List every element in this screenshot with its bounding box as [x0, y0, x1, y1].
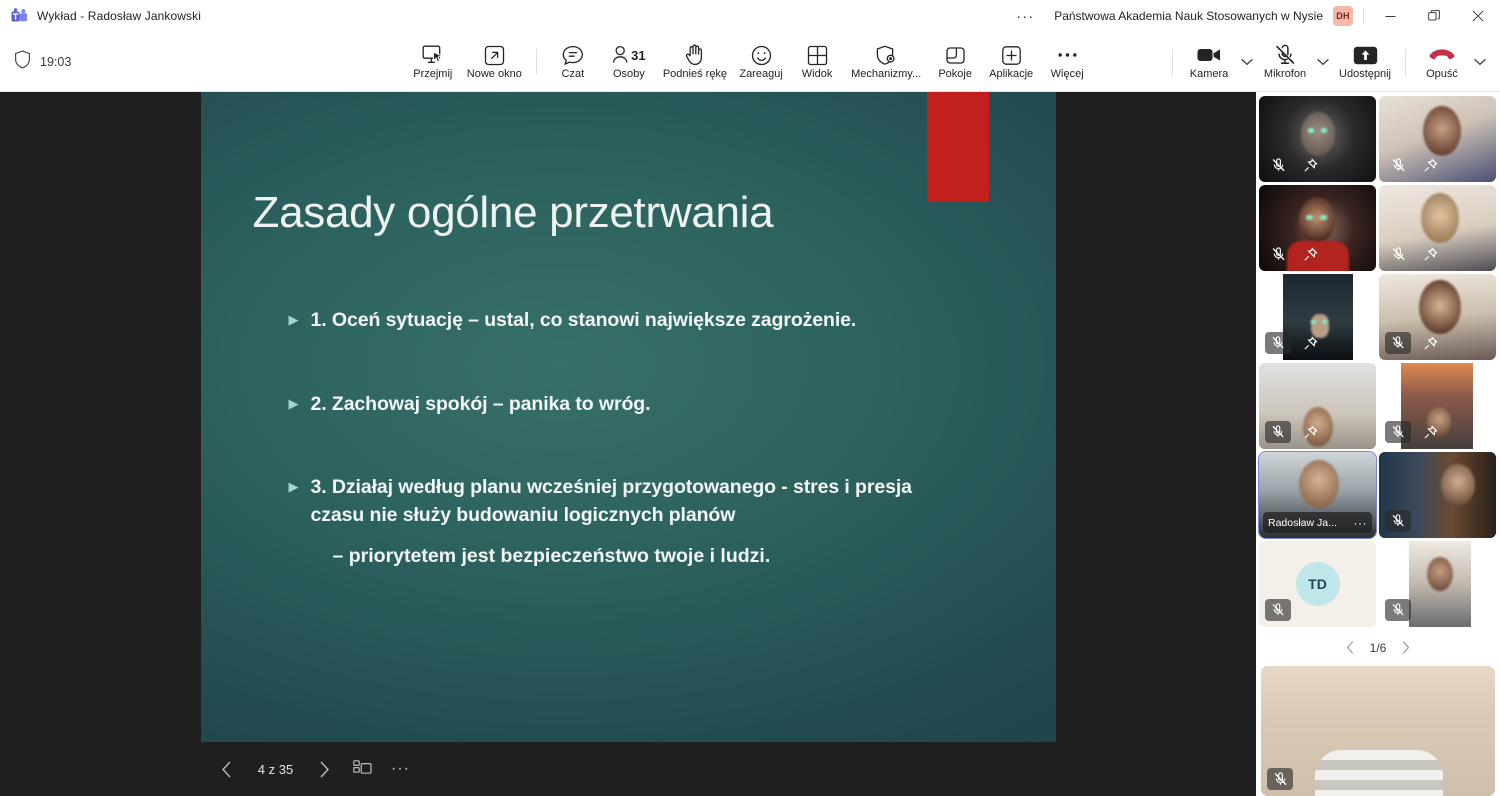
slide-canvas: Zasady ogólne przetrwania ▶ 1. Oceń sytu… — [201, 92, 1056, 742]
react-button[interactable]: Zareaguj — [733, 36, 789, 88]
minimize-button[interactable] — [1368, 0, 1412, 32]
new-window-label: Nowe okno — [467, 68, 522, 80]
slide-bullet-text: 3. Działaj według planu wcześniej przygo… — [311, 476, 912, 526]
pin-icon[interactable] — [1297, 243, 1323, 265]
titlebar-divider — [1363, 8, 1364, 24]
share-button[interactable]: Udostępnij — [1333, 36, 1397, 88]
share-screen-icon — [1353, 43, 1378, 67]
self-view-overlay — [1267, 768, 1293, 790]
user-avatar[interactable]: DH — [1333, 6, 1353, 26]
chat-label: Czat — [562, 68, 585, 80]
participant-tile[interactable] — [1379, 185, 1496, 271]
participant-count: 31 — [631, 48, 645, 63]
leave-chevron-down-icon[interactable] — [1470, 36, 1490, 88]
participant-tile[interactable] — [1379, 363, 1496, 449]
participant-tile[interactable] — [1379, 96, 1496, 182]
microphone-muted-icon — [1385, 421, 1411, 443]
mechanisms-button[interactable]: Mechanizmy... — [845, 36, 927, 88]
leave-label: Opuść — [1426, 68, 1458, 80]
slide-accent-rectangle — [927, 92, 989, 202]
microphone-muted-icon — [1265, 243, 1291, 265]
slide-bullet-list: ▶ 1. Oceń sytuację – ustal, co stanowi n… — [289, 306, 969, 596]
people-button[interactable]: 31 Osoby — [601, 36, 657, 88]
microphone-muted-icon — [1265, 599, 1291, 621]
title-bar-left: Wykład - Radosław Jankowski — [0, 8, 201, 25]
slide-title: Zasady ogólne przetrwania — [253, 188, 774, 238]
camera-button[interactable]: Kamera — [1181, 36, 1237, 88]
previous-slide-button[interactable] — [211, 753, 243, 785]
pin-icon[interactable] — [1297, 421, 1323, 443]
tile-overlay-controls — [1265, 243, 1323, 265]
more-button[interactable]: Więcej — [1039, 36, 1095, 88]
new-window-button[interactable]: Nowe okno — [461, 36, 528, 88]
tile-more-options-icon[interactable]: ··· — [1354, 517, 1368, 529]
toolbar-divider — [536, 49, 537, 75]
apps-plus-icon — [1001, 43, 1022, 67]
microphone-chevron-down-icon[interactable] — [1313, 36, 1333, 88]
shield-icon — [14, 50, 31, 74]
tile-overlay-controls — [1385, 510, 1411, 532]
organization-label: Państwowa Akademia Nauk Stosowanych w Ny… — [1044, 9, 1333, 23]
slide-bullet-item: ▶ 1. Oceń sytuację – ustal, co stanowi n… — [289, 306, 969, 334]
slide-counter: 4 z 35 — [249, 762, 303, 777]
participant-tile[interactable] — [1259, 185, 1376, 271]
microphone-muted-icon — [1267, 768, 1293, 790]
window-title: Wykład - Radosław Jankowski — [37, 9, 201, 23]
tile-overlay-controls — [1385, 332, 1443, 354]
titlebar-overflow-icon[interactable]: ··· — [1006, 9, 1044, 24]
bullet-triangle-icon: ▶ — [289, 313, 311, 334]
microphone-muted-icon — [1265, 332, 1291, 354]
participant-tile[interactable] — [1259, 96, 1376, 182]
take-control-button[interactable]: Przejmij — [405, 36, 461, 88]
raise-hand-icon — [685, 43, 704, 67]
leave-button[interactable]: Opuść — [1414, 36, 1470, 88]
toolbar-left-group: 19:03 — [0, 50, 71, 74]
tile-overlay-controls — [1265, 599, 1291, 621]
tile-overlay-controls — [1265, 332, 1323, 354]
pop-out-icon — [484, 43, 505, 67]
raise-hand-label: Podnieś rękę — [663, 68, 727, 80]
microphone-control: Mikrofon — [1257, 36, 1333, 88]
meeting-stage: Zasady ogólne przetrwania ▶ 1. Oceń sytu… — [0, 92, 1256, 796]
microphone-muted-icon — [1274, 43, 1296, 67]
bullet-triangle-icon: ▶ — [289, 480, 311, 571]
camera-control: Kamera — [1181, 36, 1257, 88]
pin-icon[interactable] — [1297, 154, 1323, 176]
teams-logo-icon — [11, 8, 28, 25]
toolbar-center-group: Przejmij Nowe okno Czat — [405, 32, 1095, 91]
participant-tile-active-speaker[interactable]: Radosław Ja... ··· — [1259, 452, 1376, 538]
people-label: Osoby — [613, 68, 645, 80]
participant-tile-grid: Radosław Ja... ··· TD — [1259, 96, 1497, 627]
react-label: Zareaguj — [739, 68, 782, 80]
mechanisms-label: Mechanizmy... — [851, 68, 921, 80]
microphone-button[interactable]: Mikrofon — [1257, 36, 1313, 88]
microphone-muted-icon — [1265, 154, 1291, 176]
toolbar-call-controls: Kamera Mikrofon — [1164, 32, 1500, 91]
slide-subnote-text: – priorytetem jest bezpieczeństwo twoje … — [333, 543, 969, 570]
tile-overlay-controls — [1385, 599, 1411, 621]
leave-control: Opuść — [1414, 36, 1490, 88]
window-title-bar: Wykład - Radosław Jankowski ··· Państwow… — [0, 0, 1500, 32]
camera-chevron-down-icon[interactable] — [1237, 36, 1257, 88]
participant-tile[interactable] — [1379, 541, 1496, 627]
apps-button[interactable]: Aplikacje — [983, 36, 1039, 88]
meeting-toolbar: 19:03 Przejmij Nowe okno — [0, 32, 1500, 92]
people-icon: 31 — [612, 43, 645, 67]
shield-gear-icon — [875, 43, 897, 67]
participant-tile[interactable] — [1259, 363, 1376, 449]
roster-next-page-button[interactable] — [1394, 636, 1418, 660]
bullet-triangle-icon: ▶ — [289, 397, 311, 418]
microphone-muted-icon — [1265, 421, 1291, 443]
view-button[interactable]: Widok — [789, 36, 845, 88]
participant-tile[interactable] — [1259, 274, 1376, 360]
pin-icon[interactable] — [1417, 154, 1443, 176]
self-view-tile[interactable] — [1261, 666, 1495, 796]
hangup-icon — [1429, 43, 1455, 67]
slide-bullet-item: ▶ 2. Zachowaj spokój – panika to wróg. — [289, 390, 969, 418]
camera-on-icon — [1197, 43, 1221, 67]
pin-icon[interactable] — [1417, 243, 1443, 265]
roster-page-indicator: 1/6 — [1364, 641, 1393, 655]
meeting-timer: 19:03 — [40, 55, 71, 69]
react-smiley-icon — [751, 43, 772, 67]
slide-more-dots-icon: ··· — [391, 761, 410, 777]
tile-overlay-controls — [1385, 421, 1443, 443]
chat-icon — [562, 43, 584, 67]
raise-hand-button[interactable]: Podnieś rękę — [657, 36, 733, 88]
pin-icon[interactable] — [1297, 332, 1323, 354]
participant-avatar-initials: TD — [1296, 562, 1340, 606]
slide-navigation-bar: 4 z 35 ··· — [201, 742, 1056, 796]
microphone-muted-icon — [1385, 332, 1411, 354]
breakout-rooms-icon — [945, 43, 966, 67]
participant-tile[interactable] — [1379, 452, 1496, 538]
next-slide-button[interactable] — [309, 753, 341, 785]
slide-bullet-item: ▶ 3. Działaj według planu wcześniej przy… — [289, 473, 969, 571]
camera-label: Kamera — [1190, 68, 1229, 80]
rooms-label: Pokoje — [938, 68, 972, 80]
participant-name-bar: Radosław Ja... ··· — [1263, 512, 1372, 533]
title-bar-right: ··· Państwowa Akademia Nauk Stosowanych … — [1006, 0, 1500, 32]
more-dots-icon — [1057, 43, 1078, 67]
slide-bullet-text: 2. Zachowaj spokój – panika to wróg. — [311, 390, 651, 418]
microphone-muted-icon — [1385, 599, 1411, 621]
view-label: Widok — [802, 68, 833, 80]
take-control-icon — [422, 43, 444, 67]
take-control-label: Przejmij — [413, 68, 452, 80]
slide-bullet-text: 1. Oceń sytuację – ustal, co stanowi naj… — [311, 306, 857, 334]
pin-icon[interactable] — [1417, 421, 1443, 443]
roster-pagination: 1/6 — [1338, 633, 1419, 662]
restore-button[interactable] — [1412, 0, 1456, 32]
participant-tile[interactable] — [1379, 274, 1496, 360]
tile-overlay-controls — [1385, 154, 1443, 176]
call-controls-divider-right — [1405, 49, 1406, 75]
slide-thumbnails-icon[interactable] — [347, 753, 379, 785]
rooms-button[interactable]: Pokoje — [927, 36, 983, 88]
chat-button[interactable]: Czat — [545, 36, 601, 88]
participant-name: Radosław Ja... — [1268, 517, 1350, 529]
slide-more-options-button[interactable]: ··· — [385, 753, 417, 785]
shared-slide[interactable]: Zasady ogólne przetrwania ▶ 1. Oceń sytu… — [201, 92, 1056, 742]
roster-previous-page-button[interactable] — [1338, 636, 1362, 660]
pin-icon[interactable] — [1417, 332, 1443, 354]
apps-label: Aplikacje — [989, 68, 1033, 80]
microphone-muted-icon — [1385, 154, 1411, 176]
more-label: Więcej — [1051, 68, 1084, 80]
call-controls-divider-left — [1172, 49, 1173, 75]
tile-overlay-controls — [1265, 421, 1323, 443]
microphone-muted-icon — [1385, 510, 1411, 532]
microphone-muted-icon — [1385, 243, 1411, 265]
tile-overlay-controls — [1265, 154, 1323, 176]
participant-tile-no-video[interactable]: TD — [1259, 541, 1376, 627]
close-button[interactable] — [1456, 0, 1500, 32]
participant-roster-panel: Radosław Ja... ··· TD — [1256, 92, 1500, 796]
tile-overlay-controls — [1385, 243, 1443, 265]
share-label: Udostępnij — [1339, 68, 1391, 80]
microphone-label: Mikrofon — [1264, 68, 1306, 80]
view-grid-icon — [807, 43, 828, 67]
